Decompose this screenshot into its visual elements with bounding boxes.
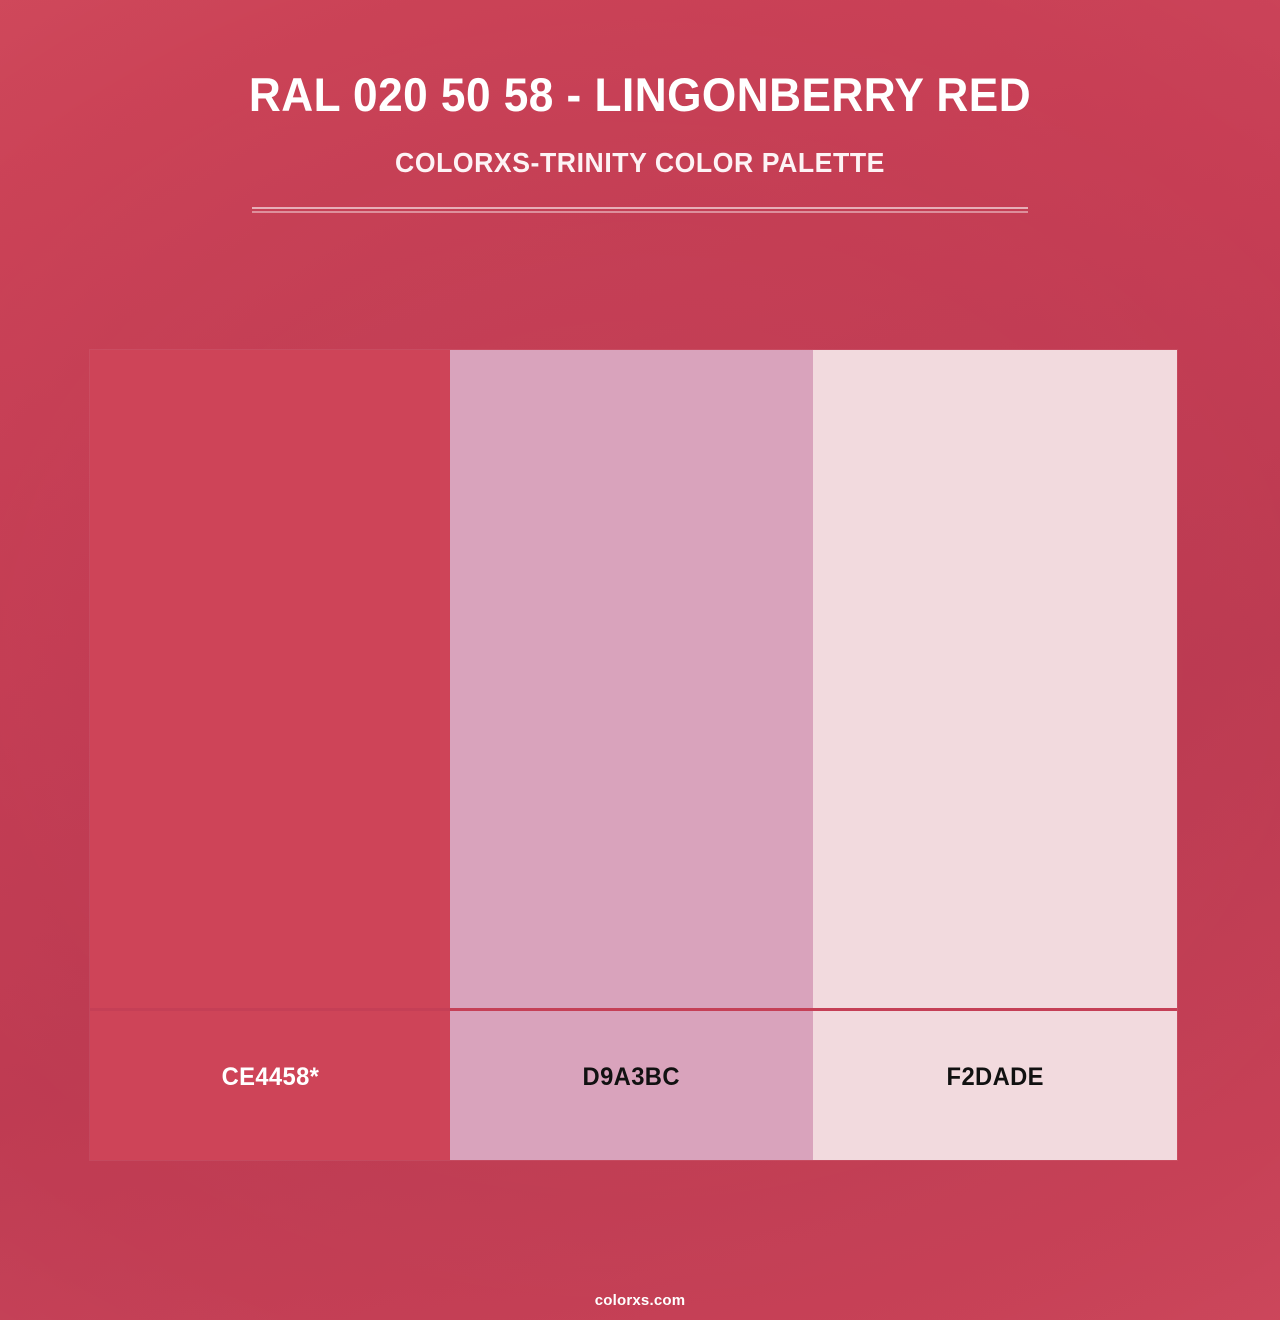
color-swatch[interactable]: CE4458* — [90, 350, 450, 1160]
swatch-label-area: F2DADE — [813, 1011, 1177, 1160]
swatch-color-chip — [450, 350, 813, 1008]
site-name[interactable]: colorxs.com — [595, 1292, 686, 1309]
page-header: RAL 020 50 58 - LINGONBERRY RED COLORXS-… — [0, 0, 1280, 213]
page-footer: colorxs.com — [0, 1292, 1280, 1310]
header-divider — [252, 207, 1028, 213]
page-subtitle: COLORXS-TRINITY COLOR PALETTE — [32, 146, 1248, 180]
divider-rule-bottom — [252, 211, 1028, 213]
swatch-hex-label: F2DADE — [946, 1063, 1043, 1092]
divider-rule-top — [252, 207, 1028, 209]
swatch-hex-label: CE4458* — [221, 1063, 319, 1092]
swatch-label-area: CE4458* — [90, 1011, 450, 1160]
swatch-color-chip — [90, 350, 450, 1008]
swatch-color-chip — [813, 350, 1177, 1008]
palette-page: RAL 020 50 58 - LINGONBERRY RED COLORXS-… — [0, 0, 1280, 1320]
page-title: RAL 020 50 58 - LINGONBERRY RED — [38, 66, 1241, 124]
swatch-hex-label: D9A3BC — [583, 1063, 680, 1092]
color-palette: CE4458* D9A3BC F2DADE — [90, 350, 1177, 1160]
swatch-label-area: D9A3BC — [450, 1011, 813, 1160]
color-swatch[interactable]: D9A3BC — [450, 350, 813, 1160]
color-swatch[interactable]: F2DADE — [813, 350, 1177, 1160]
